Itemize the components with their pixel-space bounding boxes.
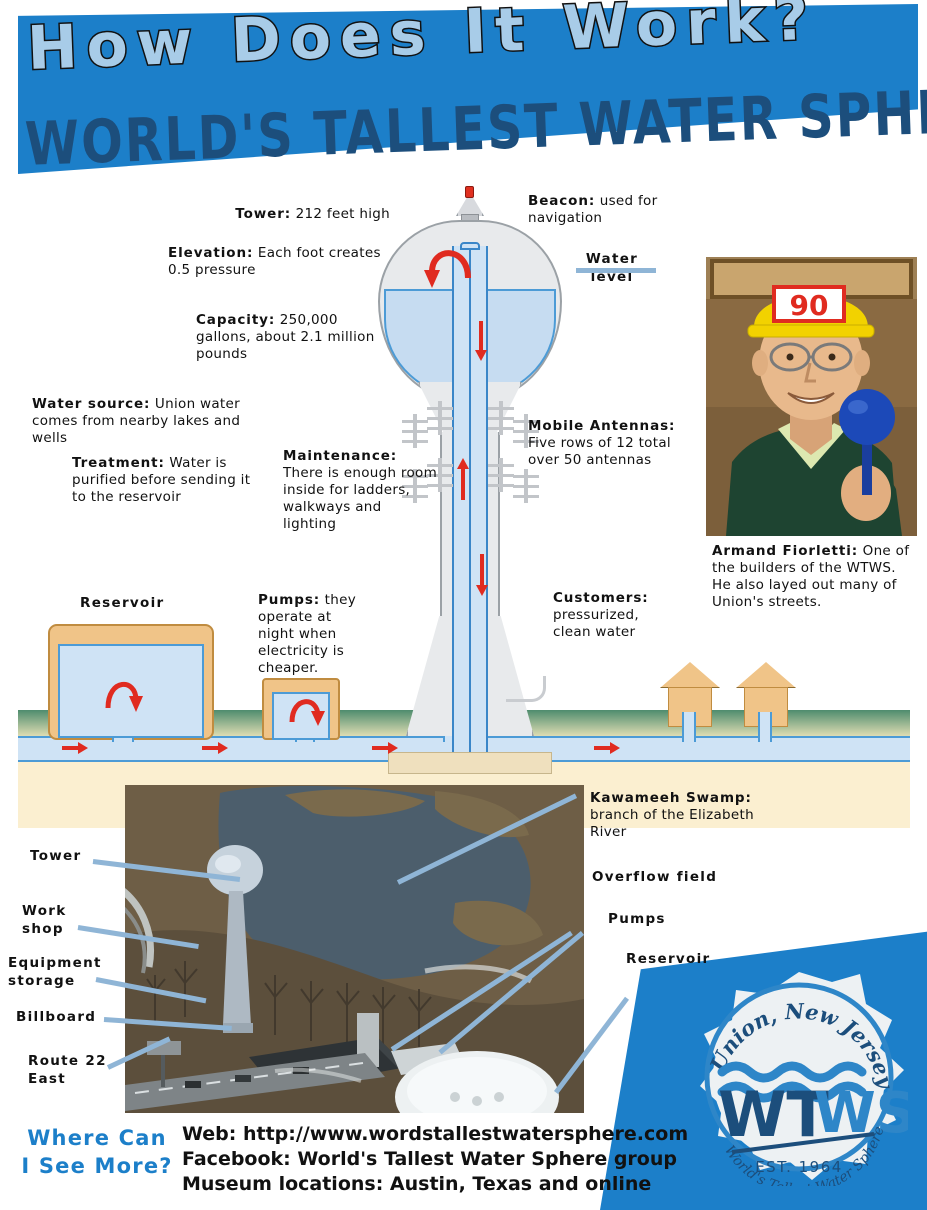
label-reservoir: Reservoir	[80, 595, 164, 613]
aerial-illustration	[125, 785, 584, 1113]
infographic-canvas: How Does It Work? WORLD'S TALLEST WATER …	[0, 0, 927, 1200]
aerial-label-tower: Tower	[30, 848, 81, 866]
footer-heading: Where Can I See More?	[12, 1124, 182, 1181]
callout-tower-label: Tower:	[235, 206, 291, 222]
footer-heading-line1: Where Can	[12, 1124, 182, 1152]
photo-illustration: 90	[706, 257, 917, 536]
callout-maintenance-text: There is enough room inside for ladders,…	[283, 465, 437, 532]
aerial-site-photo	[125, 785, 584, 1113]
antenna-icon	[488, 458, 514, 492]
callout-armand: Armand Fiorletti: One of the builders of…	[712, 543, 912, 611]
callout-tower: Tower: 212 feet high	[140, 206, 390, 223]
footer-heading-line2: I See More?	[12, 1152, 182, 1180]
callout-customers-text: pressurized, clean water	[553, 607, 639, 640]
downflow-arrow-icon	[474, 321, 488, 361]
callout-mobile-antennas: Mobile Antennas: Five rows of 12 total o…	[528, 418, 693, 469]
callout-kawameeh-swamp-text: branch of the Elizabeth River	[590, 807, 754, 840]
callout-beacon-label: Beacon:	[528, 193, 595, 209]
callout-pumps-label: Pumps:	[258, 592, 320, 608]
antenna-icon	[402, 414, 428, 448]
callout-elevation: Elevation: Each foot creates 0.5 pressur…	[168, 245, 383, 279]
aerial-label-work-shop: Work shop	[22, 903, 67, 938]
callout-water-source-label: Water source:	[32, 396, 150, 412]
downflow-arrow-icon-2	[475, 554, 489, 596]
footer-museum-line: Museum locations: Austin, Texas and onli…	[182, 1172, 882, 1197]
house-service-pipe	[758, 712, 772, 742]
callout-mobile-antennas-text: Five rows of 12 total over 50 antennas	[528, 435, 671, 468]
callout-pumps: Pumps: they operate at night when electr…	[258, 592, 368, 676]
callout-tower-text: 212 feet high	[291, 206, 390, 222]
armand-fiorletti-photo: 90	[706, 257, 917, 536]
aerial-label-billboard: Billboard	[16, 1009, 96, 1027]
reservoir-circulation-arrow-icon	[100, 668, 148, 712]
callout-maintenance: Maintenance: There is enough room inside…	[283, 448, 438, 532]
inflow-curve-arrow-icon	[416, 238, 478, 292]
callout-capacity: Capacity: 250,000 gallons, about 2.1 mil…	[196, 312, 381, 363]
footer-contact-block: Web: http://www.wordstallestwatersphere.…	[182, 1122, 882, 1197]
callout-beacon: Beacon: used for navigation	[528, 193, 678, 227]
antenna-icon	[513, 469, 539, 503]
pipe-flow-arrow-icon	[202, 742, 228, 754]
callout-water-source: Water source: Union water comes from nea…	[32, 396, 257, 447]
callout-mobile-antennas-label: Mobile Antennas:	[528, 418, 675, 434]
antenna-icon	[488, 401, 514, 435]
pipe-flow-arrow-icon	[372, 742, 398, 754]
callout-maintenance-label: Maintenance:	[283, 448, 397, 464]
water-level-rule	[576, 268, 656, 273]
aerial-label-pumps: Pumps	[608, 911, 666, 929]
house-service-pipe	[682, 712, 696, 742]
callout-treatment: Treatment: Water is purified before send…	[72, 455, 262, 506]
upflow-arrow-icon	[456, 458, 470, 500]
footer-web-line[interactable]: Web: http://www.wordstallestwatersphere.…	[182, 1122, 882, 1147]
callout-kawameeh-swamp-label: Kawameeh Swamp:	[590, 790, 752, 806]
callout-treatment-label: Treatment:	[72, 455, 165, 471]
callout-elevation-label: Elevation:	[168, 245, 253, 261]
callout-armand-label: Armand Fiorletti:	[712, 543, 858, 559]
aerial-label-route-22-east: Route 22 East	[28, 1053, 107, 1088]
aerial-label-reservoir: Reservoir	[626, 951, 710, 969]
callout-customers: Customers: pressurized, clean water	[553, 590, 663, 641]
svg-text:90: 90	[790, 289, 829, 322]
aerial-label-overflow-field: Overflow field	[592, 869, 717, 887]
aerial-label-equipment-storage: Equipment storage	[8, 955, 102, 990]
callout-kawameeh-swamp: Kawameeh Swamp: branch of the Elizabeth …	[590, 790, 780, 841]
pump-circulation-arrow-icon	[285, 688, 329, 726]
pipe-flow-arrow-icon	[594, 742, 620, 754]
antenna-icon	[427, 401, 453, 435]
pipe-flow-arrow-icon	[62, 742, 88, 754]
footer-facebook-line[interactable]: Facebook: World's Tallest Water Sphere g…	[182, 1147, 882, 1172]
beacon-light-icon	[465, 186, 474, 198]
callout-customers-label: Customers:	[553, 590, 649, 606]
riser-divider	[469, 248, 471, 756]
tower-foundation-pad	[388, 752, 552, 774]
overflow-spout-icon	[506, 676, 546, 702]
callout-capacity-label: Capacity:	[196, 312, 275, 328]
